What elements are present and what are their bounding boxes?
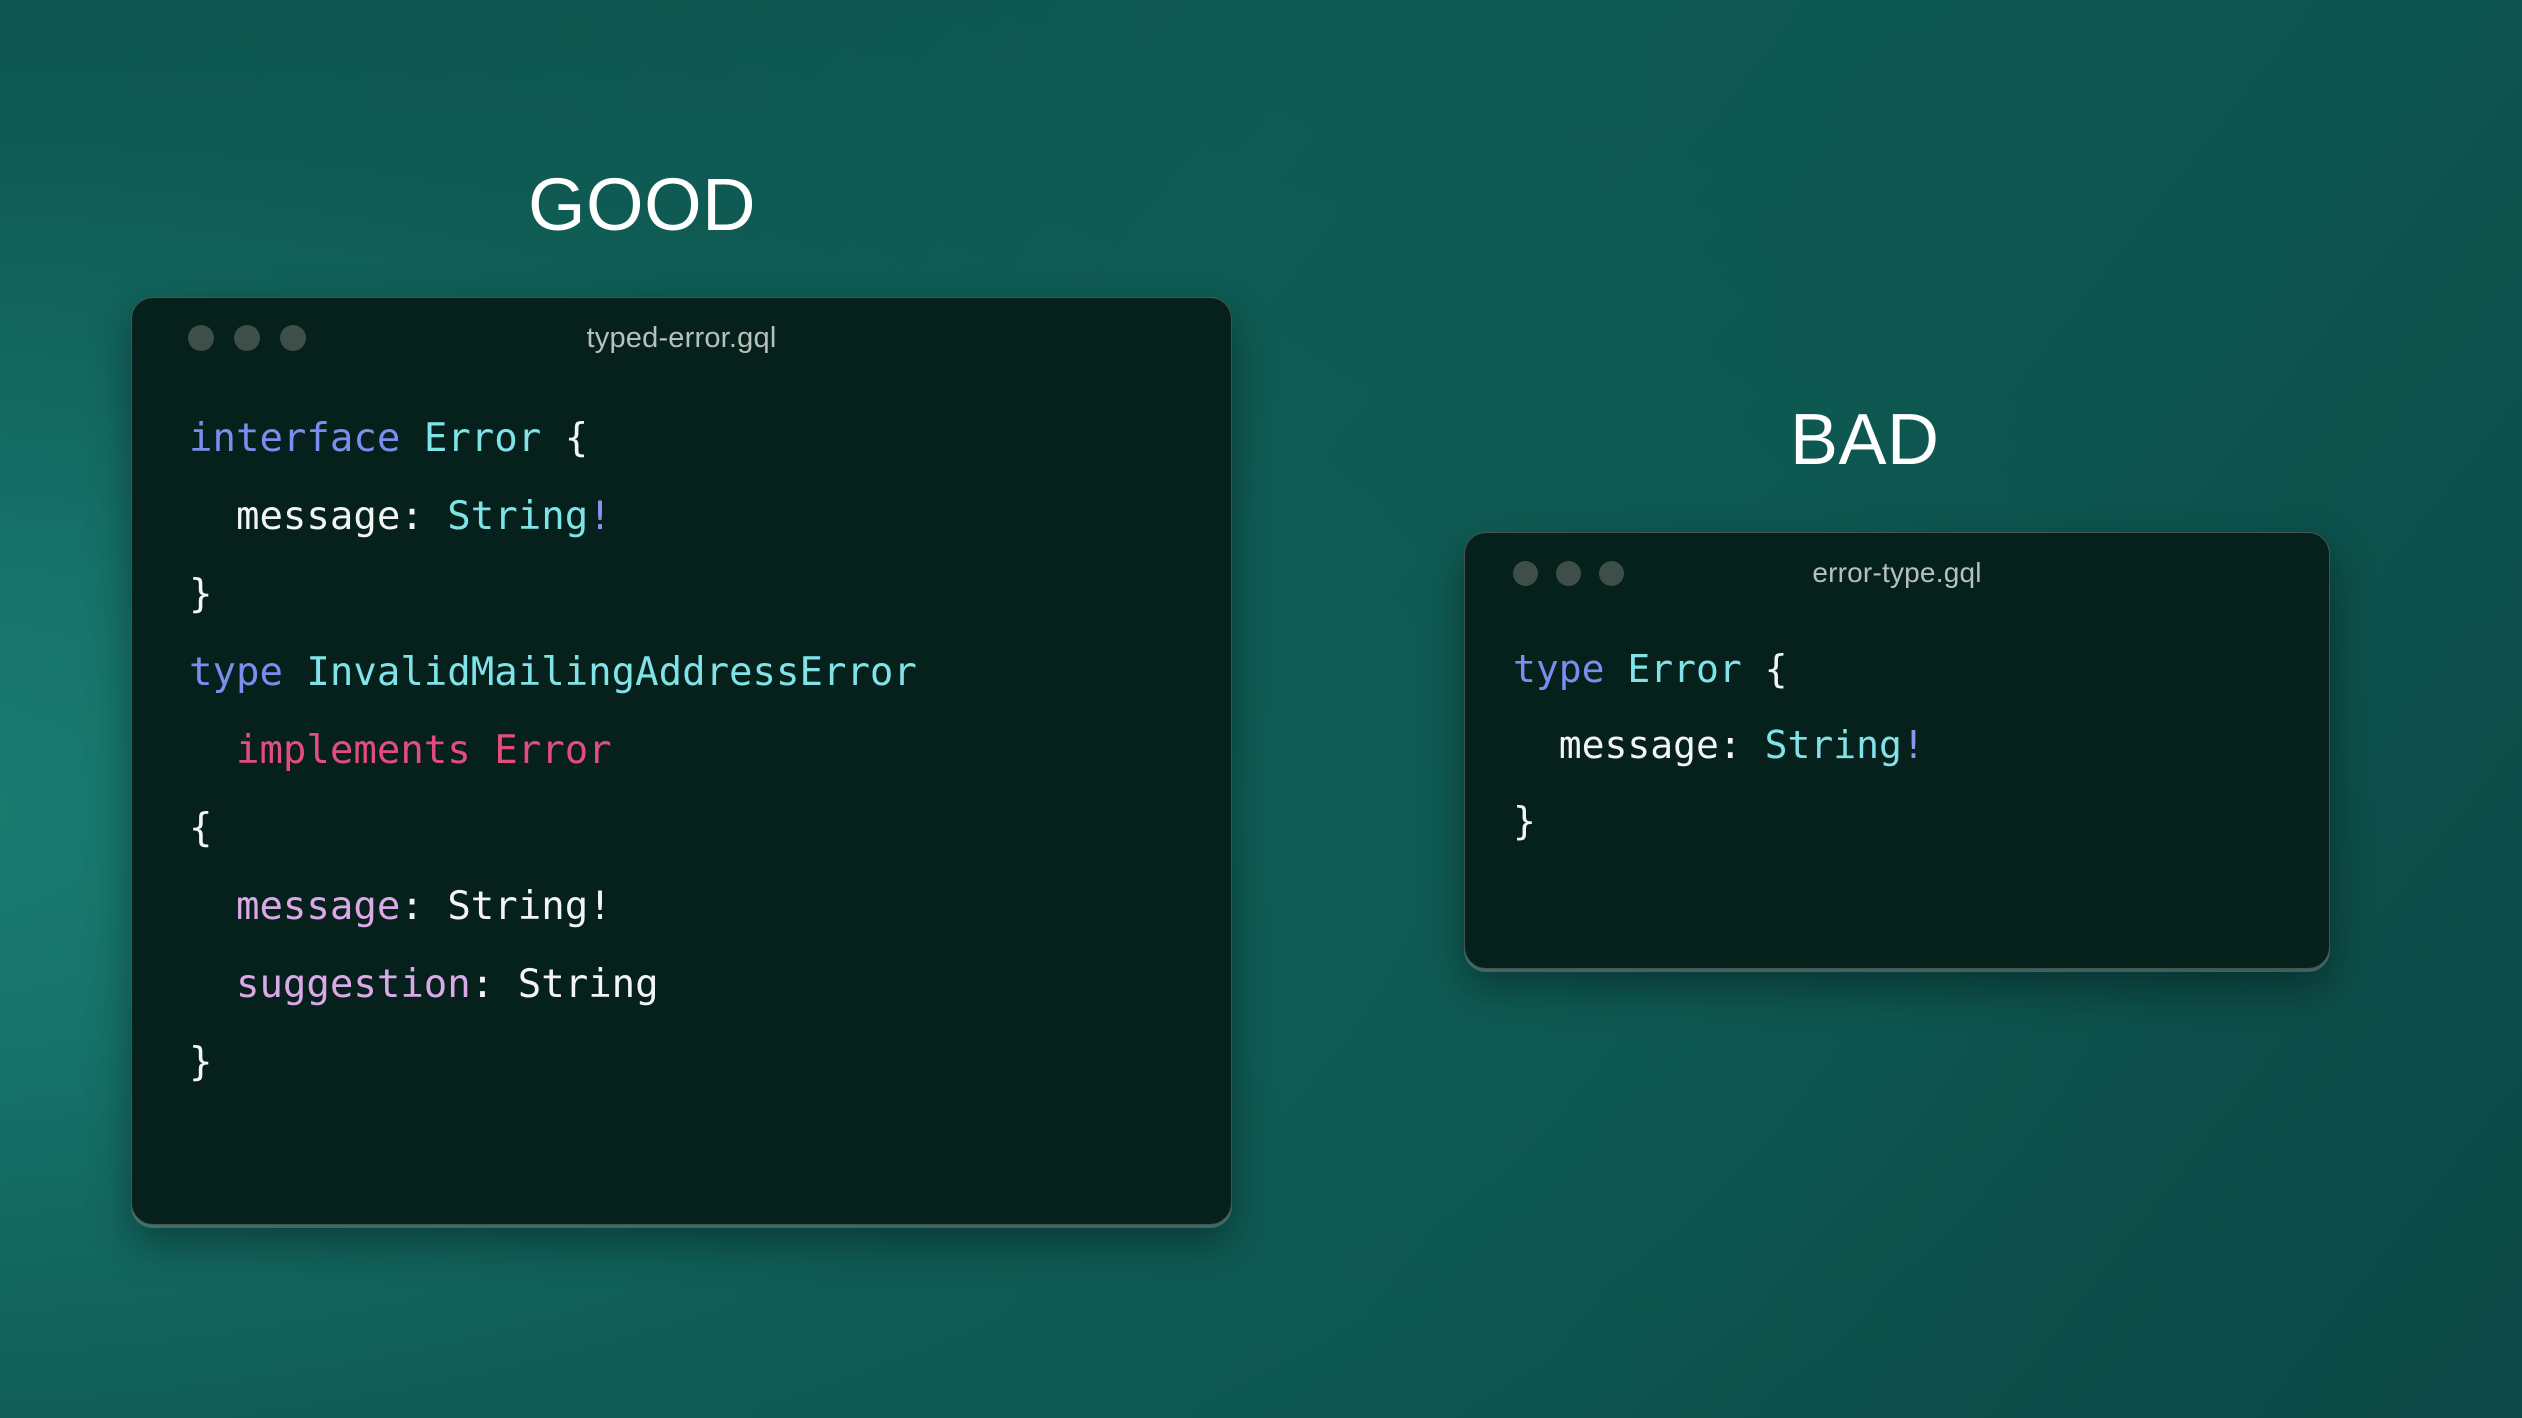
code-token: type — [1513, 647, 1605, 691]
code-token: : — [400, 884, 447, 929]
code-block-good: interface Error { message: String!}type … — [132, 378, 1231, 1102]
card-titlebar-bad: error-type.gql — [1465, 533, 2329, 613]
code-token: String! — [447, 884, 611, 929]
code-token: message — [189, 494, 400, 539]
window-controls-bad — [1513, 561, 1624, 586]
window-dot-green-icon[interactable] — [1599, 561, 1624, 586]
code-token — [189, 728, 236, 773]
code-line: implements Error — [189, 712, 1231, 790]
code-token: message — [1513, 723, 1719, 767]
code-token — [189, 962, 236, 1007]
code-block-bad: type Error { message: String!} — [1465, 613, 2329, 859]
code-card-bad: error-type.gql type Error { message: Str… — [1464, 532, 2330, 969]
code-token: String — [1765, 723, 1902, 767]
code-token: } — [1513, 799, 1536, 843]
code-token: Error — [1627, 647, 1741, 691]
window-dot-yellow-icon[interactable] — [1556, 561, 1581, 586]
code-token — [283, 650, 306, 695]
code-token: String — [518, 962, 659, 1007]
code-token — [1605, 647, 1628, 691]
code-token: Error — [424, 416, 541, 461]
code-token — [189, 884, 236, 929]
code-line: type Error { — [1513, 631, 2329, 707]
window-dot-red-icon[interactable] — [1513, 561, 1538, 586]
window-dot-yellow-icon[interactable] — [234, 325, 260, 351]
window-dot-red-icon[interactable] — [188, 325, 214, 351]
code-token: : — [400, 494, 447, 539]
window-dot-green-icon[interactable] — [280, 325, 306, 351]
code-token: } — [189, 572, 212, 617]
code-card-good: typed-error.gql interface Error { messag… — [131, 297, 1232, 1225]
card-titlebar-good: typed-error.gql — [132, 298, 1231, 378]
window-controls-good — [188, 325, 306, 351]
code-token: { — [541, 416, 588, 461]
code-token: : — [471, 962, 518, 1007]
code-token: String — [447, 494, 588, 539]
code-token — [400, 416, 423, 461]
code-token: interface — [189, 416, 400, 461]
code-line: { — [189, 790, 1231, 868]
code-line: message: String! — [1513, 707, 2329, 783]
code-token: : — [1719, 723, 1765, 767]
code-token: type — [189, 650, 283, 695]
code-line: message: String! — [189, 478, 1231, 556]
bad-example-heading: BAD — [1790, 404, 1940, 476]
code-token: { — [1742, 647, 1788, 691]
code-line: message: String! — [189, 868, 1231, 946]
code-line: suggestion: String — [189, 946, 1231, 1024]
code-token: suggestion — [236, 962, 471, 1007]
code-token: message — [236, 884, 400, 929]
code-token: InvalidMailingAddressError — [306, 650, 916, 695]
code-line: interface Error { — [189, 400, 1231, 478]
code-token: ! — [1902, 723, 1925, 767]
slide-canvas: GOOD typed-error.gql interface Error { m… — [0, 0, 2522, 1418]
good-example-heading: GOOD — [528, 168, 756, 242]
code-line: } — [1513, 783, 2329, 859]
code-token: } — [189, 1040, 212, 1085]
code-token: implements Error — [236, 728, 612, 773]
code-token: { — [189, 806, 212, 851]
code-line: } — [189, 1024, 1231, 1102]
code-line: } — [189, 556, 1231, 634]
code-token: ! — [588, 494, 611, 539]
code-line: type InvalidMailingAddressError — [189, 634, 1231, 712]
